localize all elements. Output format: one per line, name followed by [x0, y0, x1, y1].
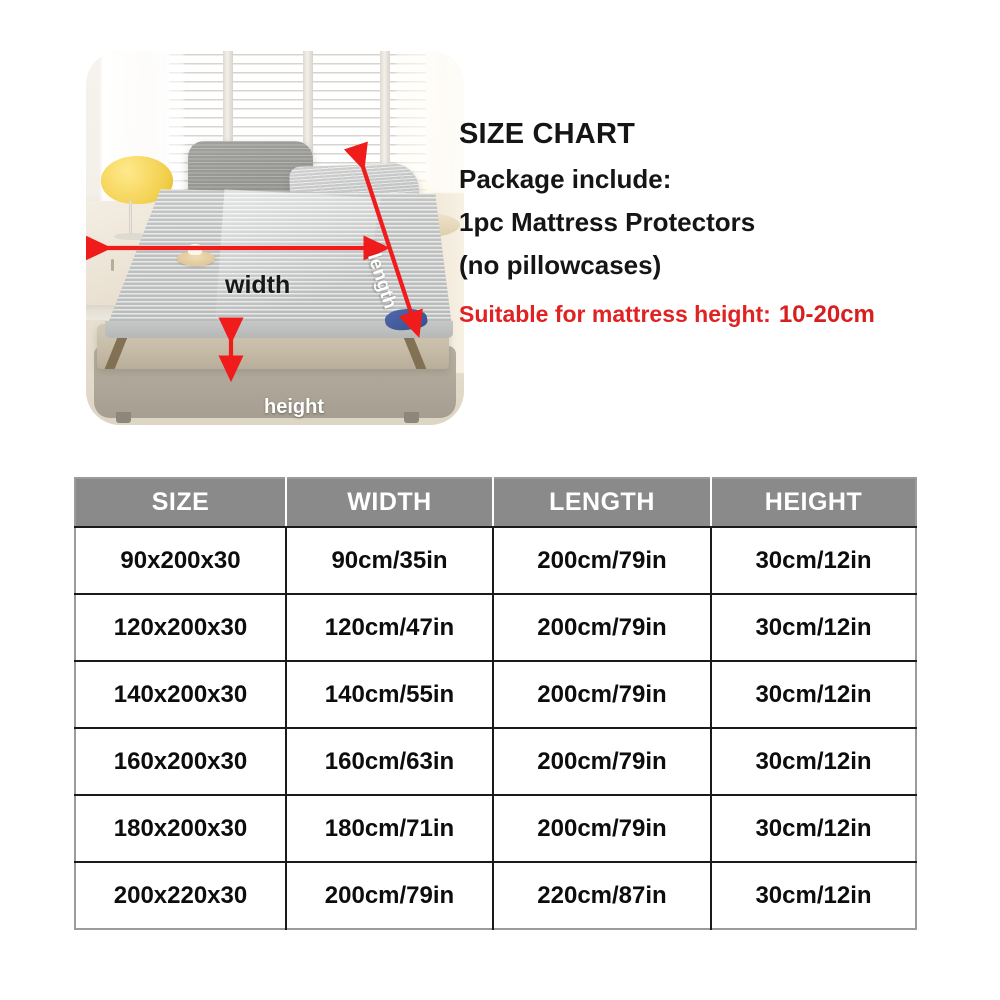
cell-length: 200cm/79in: [493, 795, 711, 862]
table-row: 90x200x30 90cm/35in 200cm/79in 30cm/12in: [75, 527, 916, 594]
mattress-height-note-label: Suitable for mattress height:: [459, 301, 771, 327]
table-row: 160x200x30 160cm/63in 200cm/79in 30cm/12…: [75, 728, 916, 795]
column-header-height: HEIGHT: [711, 478, 916, 527]
table-row: 200x220x30 200cm/79in 220cm/87in 30cm/12…: [75, 862, 916, 929]
height-label: height: [264, 397, 324, 417]
size-chart-page: width height length SIZE CHART Package i…: [0, 0, 1000, 1000]
size-chart-table: SIZE WIDTH LENGTH HEIGHT 90x200x30 90cm/…: [74, 477, 917, 930]
mattress-height-note: Suitable for mattress height:10-20cm: [459, 301, 979, 329]
table-header-row: SIZE WIDTH LENGTH HEIGHT: [75, 478, 916, 527]
cell-size: 140x200x30: [75, 661, 286, 728]
cell-length: 200cm/79in: [493, 594, 711, 661]
package-contents-item: 1pc Mattress Protectors: [459, 207, 979, 238]
column-header-size: SIZE: [75, 478, 286, 527]
info-text-block: SIZE CHART Package include: 1pc Mattress…: [459, 118, 979, 329]
cell-size: 160x200x30: [75, 728, 286, 795]
cell-width: 160cm/63in: [286, 728, 493, 795]
width-label: width: [225, 273, 290, 298]
cell-size: 90x200x30: [75, 527, 286, 594]
cell-height: 30cm/12in: [711, 594, 916, 661]
cell-width: 140cm/55in: [286, 661, 493, 728]
page-title: SIZE CHART: [459, 118, 979, 151]
cell-width: 200cm/79in: [286, 862, 493, 929]
table-header: SIZE WIDTH LENGTH HEIGHT: [75, 478, 916, 527]
photo-scene: width height length: [86, 51, 464, 425]
cell-width: 90cm/35in: [286, 527, 493, 594]
table-row: 120x200x30 120cm/47in 200cm/79in 30cm/12…: [75, 594, 916, 661]
cell-length: 200cm/79in: [493, 527, 711, 594]
cell-width: 180cm/71in: [286, 795, 493, 862]
package-include-label: Package include:: [459, 164, 979, 195]
cell-size: 120x200x30: [75, 594, 286, 661]
table-row: 180x200x30 180cm/71in 200cm/79in 30cm/12…: [75, 795, 916, 862]
column-header-width: WIDTH: [286, 478, 493, 527]
cell-height: 30cm/12in: [711, 527, 916, 594]
cell-length: 200cm/79in: [493, 728, 711, 795]
cell-width: 120cm/47in: [286, 594, 493, 661]
size-chart-table-wrap: SIZE WIDTH LENGTH HEIGHT 90x200x30 90cm/…: [74, 477, 915, 930]
measurement-arrows: [86, 51, 464, 425]
table-row: 140x200x30 140cm/55in 200cm/79in 30cm/12…: [75, 661, 916, 728]
table-body: 90x200x30 90cm/35in 200cm/79in 30cm/12in…: [75, 527, 916, 929]
length-arrow: [363, 167, 418, 334]
column-header-length: LENGTH: [493, 478, 711, 527]
cell-size: 180x200x30: [75, 795, 286, 862]
mattress-height-note-value: 10-20cm: [779, 301, 875, 328]
cell-length: 220cm/87in: [493, 862, 711, 929]
cell-length: 200cm/79in: [493, 661, 711, 728]
cell-size: 200x220x30: [75, 862, 286, 929]
product-photo: width height length: [86, 51, 464, 425]
cell-height: 30cm/12in: [711, 795, 916, 862]
cell-height: 30cm/12in: [711, 862, 916, 929]
package-contents-note: (no pillowcases): [459, 250, 979, 281]
cell-height: 30cm/12in: [711, 661, 916, 728]
cell-height: 30cm/12in: [711, 728, 916, 795]
